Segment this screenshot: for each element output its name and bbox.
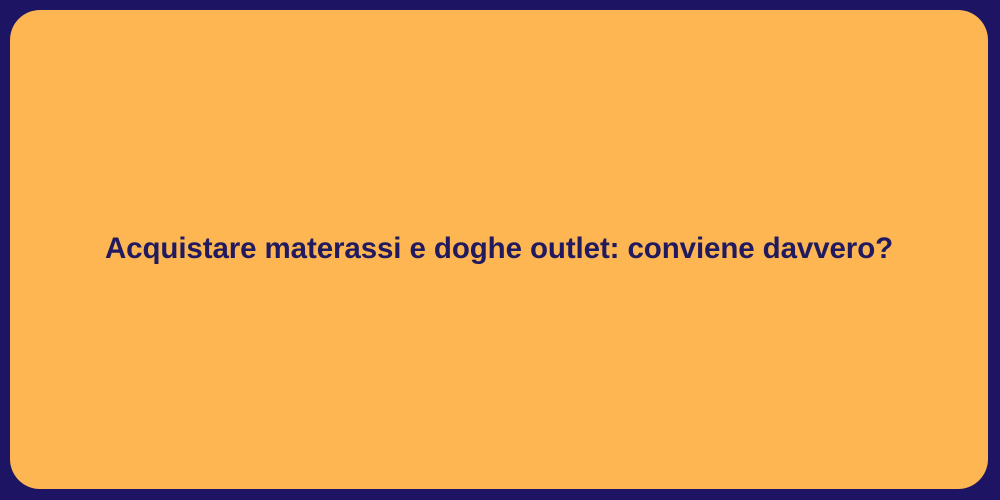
article-card: Acquistare materassi e doghe outlet: con…: [10, 10, 988, 489]
article-banner: Acquistare materassi e doghe outlet: con…: [0, 0, 1000, 500]
article-headline: Acquistare materassi e doghe outlet: con…: [105, 231, 893, 268]
